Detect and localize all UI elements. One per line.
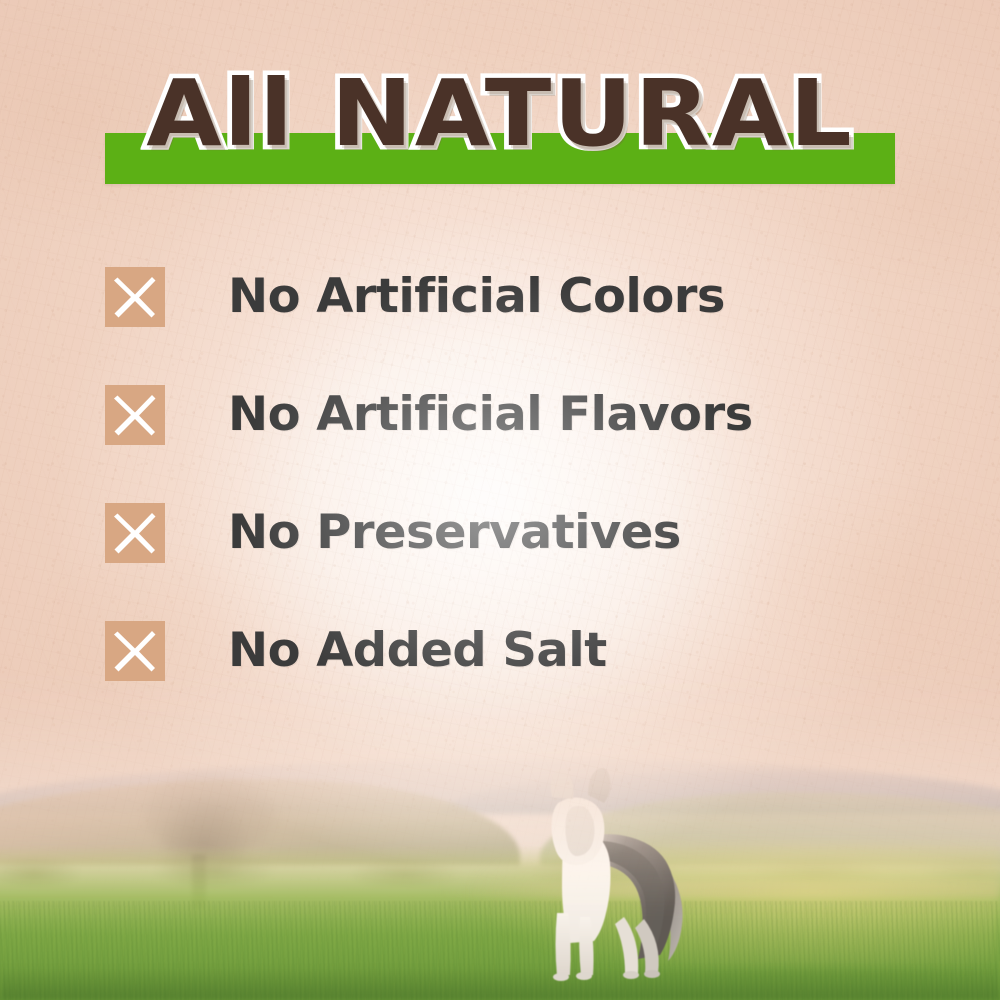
x-mark-icon: [105, 385, 165, 445]
list-item-label: No Preservatives: [228, 494, 681, 572]
x-mark-icon: [105, 267, 165, 327]
list-item: No Preservatives: [105, 494, 935, 612]
all-natural-product-graphic: All NATURAL No Artificial Colors No Arti…: [0, 0, 1000, 1000]
foreground-grass-shadow: [0, 967, 1000, 1000]
list-item: No Artificial Colors: [105, 258, 935, 376]
border-collie-dog: [518, 767, 698, 982]
list-item: No Added Salt: [105, 612, 935, 730]
x-mark-icon: [105, 503, 165, 563]
list-item-label: No Artificial Flavors: [228, 376, 753, 454]
x-mark-icon: [105, 621, 165, 681]
claims-list: No Artificial Colors No Artificial Flavo…: [105, 258, 935, 730]
list-item: No Artificial Flavors: [105, 376, 935, 494]
list-item-label: No Artificial Colors: [228, 258, 725, 336]
list-item-label: No Added Salt: [228, 612, 607, 690]
page-title: All NATURAL: [0, 68, 1000, 160]
